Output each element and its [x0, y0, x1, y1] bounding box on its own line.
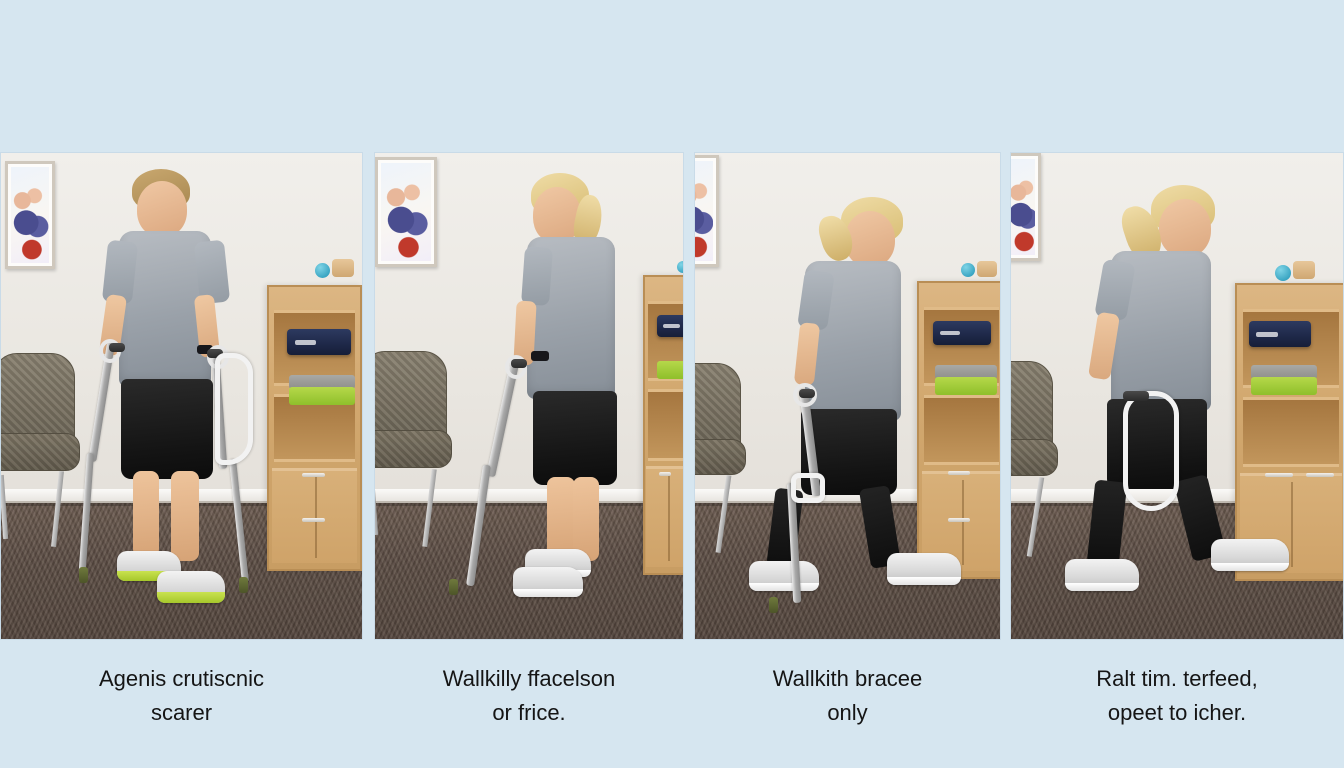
- bookshelf: [267, 285, 362, 571]
- photo-panel-2: [374, 152, 684, 640]
- caption-panel-2: Wallkilly ffacelson or frice.: [374, 640, 684, 768]
- brace-handle: [1123, 391, 1149, 401]
- navy-bag: [287, 329, 351, 355]
- caption-4-line-2: opeet to icher.: [1108, 696, 1246, 730]
- photo-panel-4: [1010, 152, 1344, 640]
- navy-bag: [1249, 321, 1311, 347]
- wicker-basket: [1293, 261, 1315, 279]
- caption-gap-2: [684, 640, 694, 768]
- wall-poster: [694, 155, 719, 267]
- caption-1-line-1: Agenis crutiscnic: [99, 662, 264, 696]
- green-pad: [657, 361, 684, 379]
- photo-panel-3: [694, 152, 1001, 640]
- crutch-left-tip: [79, 567, 88, 583]
- shoe-back: [749, 561, 819, 591]
- clinic-scene-2: [375, 153, 683, 639]
- blue-ornament: [315, 263, 330, 278]
- brace-frame-aid: [1123, 391, 1179, 511]
- navy-bag: [933, 321, 991, 345]
- panel-gap-2: [684, 152, 694, 640]
- wristwatch: [531, 351, 549, 361]
- wicker-basket: [977, 261, 997, 277]
- shoe-back: [1065, 559, 1139, 591]
- clinic-scene-1: [1, 153, 362, 639]
- caption-panel-1: Agenis crutiscnic scarer: [0, 640, 363, 768]
- clinic-scene-4: [1011, 153, 1343, 639]
- crutch-right-tip: [239, 577, 248, 593]
- navy-bag: [657, 315, 684, 337]
- panel-gap-1: [363, 152, 374, 640]
- image-root: Agenis crutiscnic scarer Wallkilly fface…: [0, 0, 1344, 768]
- caption-gap-1: [363, 640, 374, 768]
- photo-panel-1: [0, 152, 363, 640]
- wall-poster: [5, 161, 55, 269]
- blue-ornament: [677, 261, 684, 273]
- waiting-chair: [374, 351, 447, 509]
- caption-row: Agenis crutiscnic scarer Wallkilly fface…: [0, 640, 1344, 768]
- crutch-tip: [769, 597, 778, 613]
- waiting-chair: [0, 353, 75, 513]
- blue-ornament: [1275, 265, 1291, 281]
- caption-3-line-2: only: [827, 696, 867, 730]
- waiting-chair: [694, 363, 741, 515]
- clinic-scene-3: [695, 153, 1000, 639]
- blue-ornament: [961, 263, 975, 277]
- shoe-right: [157, 571, 225, 603]
- caption-panel-3: Wallkith bracee only: [694, 640, 1001, 768]
- caption-2-line-1: Wallkilly ffacelson: [443, 662, 615, 696]
- caption-panel-4: Ralt tim. terfeed, opeet to icher.: [1010, 640, 1344, 768]
- green-pad: [935, 377, 997, 395]
- caption-gap-3: [1001, 640, 1010, 768]
- caption-4-line-1: Ralt tim. terfeed,: [1096, 662, 1257, 696]
- waiting-chair: [1010, 361, 1053, 517]
- green-pad: [1251, 377, 1317, 395]
- crutch-right-arm-loop: [215, 353, 253, 465]
- crutch-leg-band: [791, 473, 825, 503]
- green-pad: [289, 387, 355, 405]
- panel-strip: [0, 152, 1344, 640]
- caption-2-line-2: or frice.: [492, 696, 565, 730]
- caption-3-line-1: Wallkith bracee: [773, 662, 923, 696]
- panel-gap-3: [1001, 152, 1010, 640]
- shoe-front: [1211, 539, 1289, 571]
- caption-1-line-2: scarer: [151, 696, 212, 730]
- shoe-front: [887, 553, 961, 585]
- wall-poster: [1010, 153, 1041, 261]
- wall-poster: [375, 157, 437, 267]
- shoe-front: [513, 567, 583, 597]
- wicker-basket: [332, 259, 354, 277]
- crutch-tip: [449, 579, 458, 595]
